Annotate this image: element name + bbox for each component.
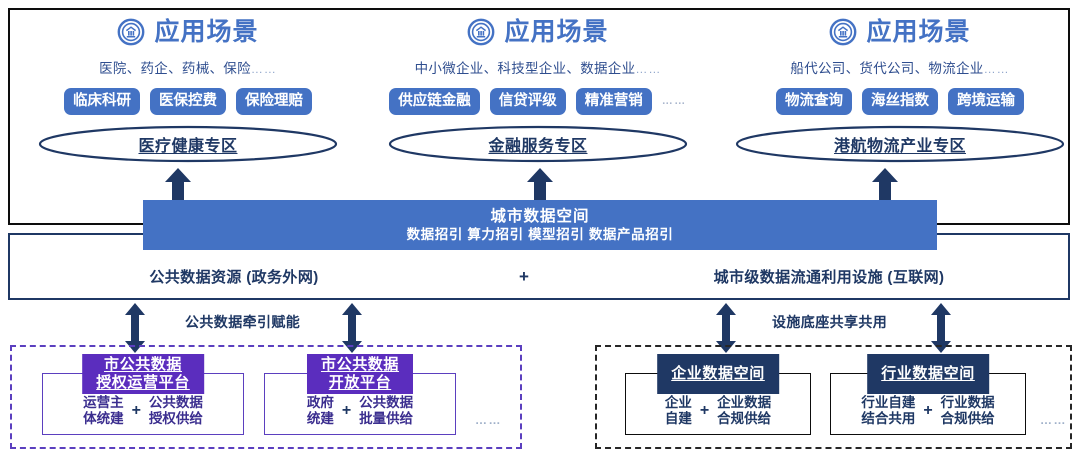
space-unit-header: 行业数据空间 bbox=[867, 354, 989, 394]
scenario-subtitle-ellipsis: …… bbox=[984, 62, 1010, 76]
zone-label: 港航物流产业专区 bbox=[834, 132, 966, 156]
enterprise-industry-space-group: 企业数据空间 企业 自建 + 企业数据 合规供给 行业数据空间 行业自建 bbox=[595, 345, 1072, 449]
scenario-pill[interactable]: 临床科研 bbox=[64, 88, 140, 115]
enterprise-building-icon bbox=[467, 18, 495, 46]
scenario-subtitle-ellipsis: …… bbox=[251, 62, 277, 76]
city-data-space-bar: 城市数据空间 数据招引 算力招引 模型招引 数据产品招引 bbox=[143, 200, 937, 250]
scenario-subtitle-text: 中小微企业、科技型企业、数据企业 bbox=[415, 61, 636, 76]
platform-unit-header: 市公共数据 开放平台 bbox=[307, 354, 413, 394]
scenario-pill-row: 物流查询 海丝指数 跨境运输 bbox=[728, 88, 1072, 115]
connector-label-right: 设施底座共享共用 bbox=[772, 312, 887, 332]
platform-unit-body: 政府 统建 + 公共数据 批量供给 bbox=[265, 392, 455, 430]
zone-wrapper: 医疗健康专区 bbox=[18, 125, 358, 163]
group-ellipsis-left: …… bbox=[475, 413, 502, 427]
space-unit-header: 企业数据空间 bbox=[657, 354, 779, 394]
scenario-subtitle: 船代公司、货代公司、物流企业…… bbox=[728, 57, 1072, 77]
city-data-space-subtitle: 数据招引 算力招引 模型招引 数据产品招引 bbox=[407, 226, 674, 244]
platform-unit-header-line1: 市公共数据 bbox=[321, 356, 399, 374]
scenario-pill[interactable]: 精准营销 bbox=[576, 88, 652, 115]
scenario-pill[interactable]: 保险理赔 bbox=[236, 88, 312, 115]
platform-unit-header: 市公共数据 授权运营平台 bbox=[82, 354, 204, 394]
platform-unit-open-platform[interactable]: 市公共数据 开放平台 政府 统建 + 公共数据 批量供给 bbox=[264, 373, 456, 435]
scenario-title: 应用场景 bbox=[504, 20, 608, 45]
zone-label: 医疗健康专区 bbox=[138, 132, 237, 156]
scenario-pill[interactable]: 物流查询 bbox=[776, 88, 852, 115]
platform-unit-left-line2: 体统建 bbox=[83, 411, 124, 427]
platform-unit-plus: + bbox=[342, 402, 351, 420]
public-data-platform-group: 市公共数据 授权运营平台 运营主 体统建 + 公共数据 授权供给 市公共数据 开… bbox=[10, 345, 522, 449]
scenario-subtitle: 医院、药企、药械、保险…… bbox=[18, 57, 358, 77]
up-arrow-healthcare bbox=[165, 168, 191, 204]
space-unit-left-line2: 结合共用 bbox=[861, 411, 915, 427]
zone-ellipse-healthcare[interactable]: 医疗健康专区 bbox=[38, 125, 338, 163]
connector-label-left: 公共数据牵引赋能 bbox=[185, 312, 300, 332]
plus-symbol: + bbox=[399, 267, 649, 287]
platform-unit-plus: + bbox=[132, 402, 141, 420]
up-arrow-logistics bbox=[872, 168, 898, 204]
zone-ellipse-finance[interactable]: 金融服务专区 bbox=[388, 125, 688, 163]
scenario-header: 应用场景 bbox=[728, 18, 1072, 46]
space-unit-right-line1: 企业数据 bbox=[717, 395, 771, 411]
scenario-pill[interactable]: 供应链金融 bbox=[389, 88, 480, 115]
platform-unit-left-line2: 统建 bbox=[307, 411, 334, 427]
up-arrow-finance bbox=[527, 168, 553, 204]
city-circulation-facility-item: 城市级数据流通利用设施 (互联网) bbox=[649, 266, 1009, 287]
space-unit-right-text: 企业数据 合规供给 bbox=[717, 395, 771, 428]
space-unit-left-line2: 自建 bbox=[665, 411, 692, 427]
space-unit-left-line1: 行业自建 bbox=[861, 395, 915, 411]
space-unit-right-text: 行业数据 合规供给 bbox=[941, 395, 995, 428]
scenario-title: 应用场景 bbox=[866, 20, 970, 45]
scenario-pill-ellipsis: …… bbox=[662, 95, 687, 107]
platform-unit-body: 运营主 体统建 + 公共数据 授权供给 bbox=[43, 392, 243, 430]
scenario-title: 应用场景 bbox=[154, 20, 258, 45]
scenario-pill-row: 临床科研 医保控费 保险理赔 bbox=[18, 88, 358, 115]
scenario-subtitle-text: 医院、药企、药械、保险 bbox=[99, 61, 251, 76]
scenario-pill[interactable]: 跨境运输 bbox=[948, 88, 1024, 115]
platform-unit-left-line1: 运营主 bbox=[83, 395, 124, 411]
city-data-space-title: 城市数据空间 bbox=[490, 207, 589, 226]
space-unit-body: 行业自建 结合共用 + 行业数据 合规供给 bbox=[831, 392, 1025, 430]
city-circulation-facility-label: 城市级数据流通利用设施 bbox=[714, 269, 883, 286]
space-unit-right-line1: 行业数据 bbox=[941, 395, 995, 411]
diagram-canvas: 应用场景 医院、药企、药械、保险…… 临床科研 医保控费 保险理赔 医疗健康专区 bbox=[0, 0, 1080, 457]
group-ellipsis-right: …… bbox=[1040, 413, 1067, 427]
space-unit-right-line2: 合规供给 bbox=[941, 411, 995, 427]
scenario-pill[interactable]: 医保控费 bbox=[150, 88, 226, 115]
space-unit-body: 企业 自建 + 企业数据 合规供给 bbox=[626, 392, 810, 430]
scenario-header: 应用场景 bbox=[18, 18, 358, 46]
scenario-header: 应用场景 bbox=[358, 18, 718, 46]
platform-unit-right-line1: 公共数据 bbox=[359, 395, 413, 411]
space-unit-left-line1: 企业 bbox=[665, 395, 692, 411]
scenario-subtitle: 中小微企业、科技型企业、数据企业…… bbox=[358, 57, 718, 77]
city-circulation-facility-network: (互联网) bbox=[887, 269, 944, 286]
zone-label: 金融服务专区 bbox=[488, 132, 587, 156]
public-data-resource-item: 公共数据资源 (政务外网) bbox=[69, 266, 399, 287]
platform-unit-right-line2: 批量供给 bbox=[359, 411, 413, 427]
platform-unit-right-line2: 授权供给 bbox=[149, 411, 203, 427]
platform-unit-header-line2: 开放平台 bbox=[329, 374, 391, 392]
space-unit-left-text: 企业 自建 bbox=[665, 395, 692, 428]
space-unit-header-line1: 行业数据空间 bbox=[881, 365, 975, 383]
scenario-subtitle-ellipsis: …… bbox=[635, 62, 661, 76]
platform-unit-right-line1: 公共数据 bbox=[149, 395, 203, 411]
platform-unit-left-line1: 政府 bbox=[307, 395, 334, 411]
enterprise-building-icon bbox=[829, 18, 857, 46]
platform-unit-header-line1: 市公共数据 bbox=[104, 356, 182, 374]
scenario-column-logistics: 应用场景 船代公司、货代公司、物流企业…… 物流查询 海丝指数 跨境运输 港航物… bbox=[728, 10, 1072, 223]
platform-unit-left-text: 运营主 体统建 bbox=[83, 395, 124, 428]
space-unit-plus: + bbox=[700, 402, 709, 420]
platform-unit-right-text: 公共数据 授权供给 bbox=[149, 395, 203, 428]
public-data-resource-network: (政务外网) bbox=[246, 269, 318, 286]
platform-unit-left-text: 政府 统建 bbox=[307, 395, 334, 428]
space-unit-left-text: 行业自建 结合共用 bbox=[861, 395, 915, 428]
platform-unit-header-line2: 授权运营平台 bbox=[96, 374, 190, 392]
data-resource-row: 公共数据资源 (政务外网) + 城市级数据流通利用设施 (互联网) bbox=[10, 266, 1068, 287]
enterprise-building-icon bbox=[117, 18, 145, 46]
space-unit-industry[interactable]: 行业数据空间 行业自建 结合共用 + 行业数据 合规供给 bbox=[830, 373, 1026, 435]
zone-ellipse-logistics[interactable]: 港航物流产业专区 bbox=[735, 125, 1065, 163]
space-unit-enterprise[interactable]: 企业数据空间 企业 自建 + 企业数据 合规供给 bbox=[625, 373, 811, 435]
public-data-resource-label: 公共数据资源 bbox=[149, 269, 241, 286]
scenario-subtitle-text: 船代公司、货代公司、物流企业 bbox=[790, 61, 983, 76]
scenario-pill-row: 供应链金融 信贷评级 精准营销 …… bbox=[358, 88, 718, 115]
platform-unit-authorized-operation[interactable]: 市公共数据 授权运营平台 运营主 体统建 + 公共数据 授权供给 bbox=[42, 373, 244, 435]
scenario-pill[interactable]: 海丝指数 bbox=[862, 88, 938, 115]
space-unit-header-line1: 企业数据空间 bbox=[671, 365, 765, 383]
scenario-pill[interactable]: 信贷评级 bbox=[490, 88, 566, 115]
space-unit-right-line2: 合规供给 bbox=[717, 411, 771, 427]
zone-wrapper: 港航物流产业专区 bbox=[728, 125, 1072, 163]
platform-unit-right-text: 公共数据 批量供给 bbox=[359, 395, 413, 428]
zone-wrapper: 金融服务专区 bbox=[358, 125, 718, 163]
space-unit-plus: + bbox=[923, 402, 932, 420]
